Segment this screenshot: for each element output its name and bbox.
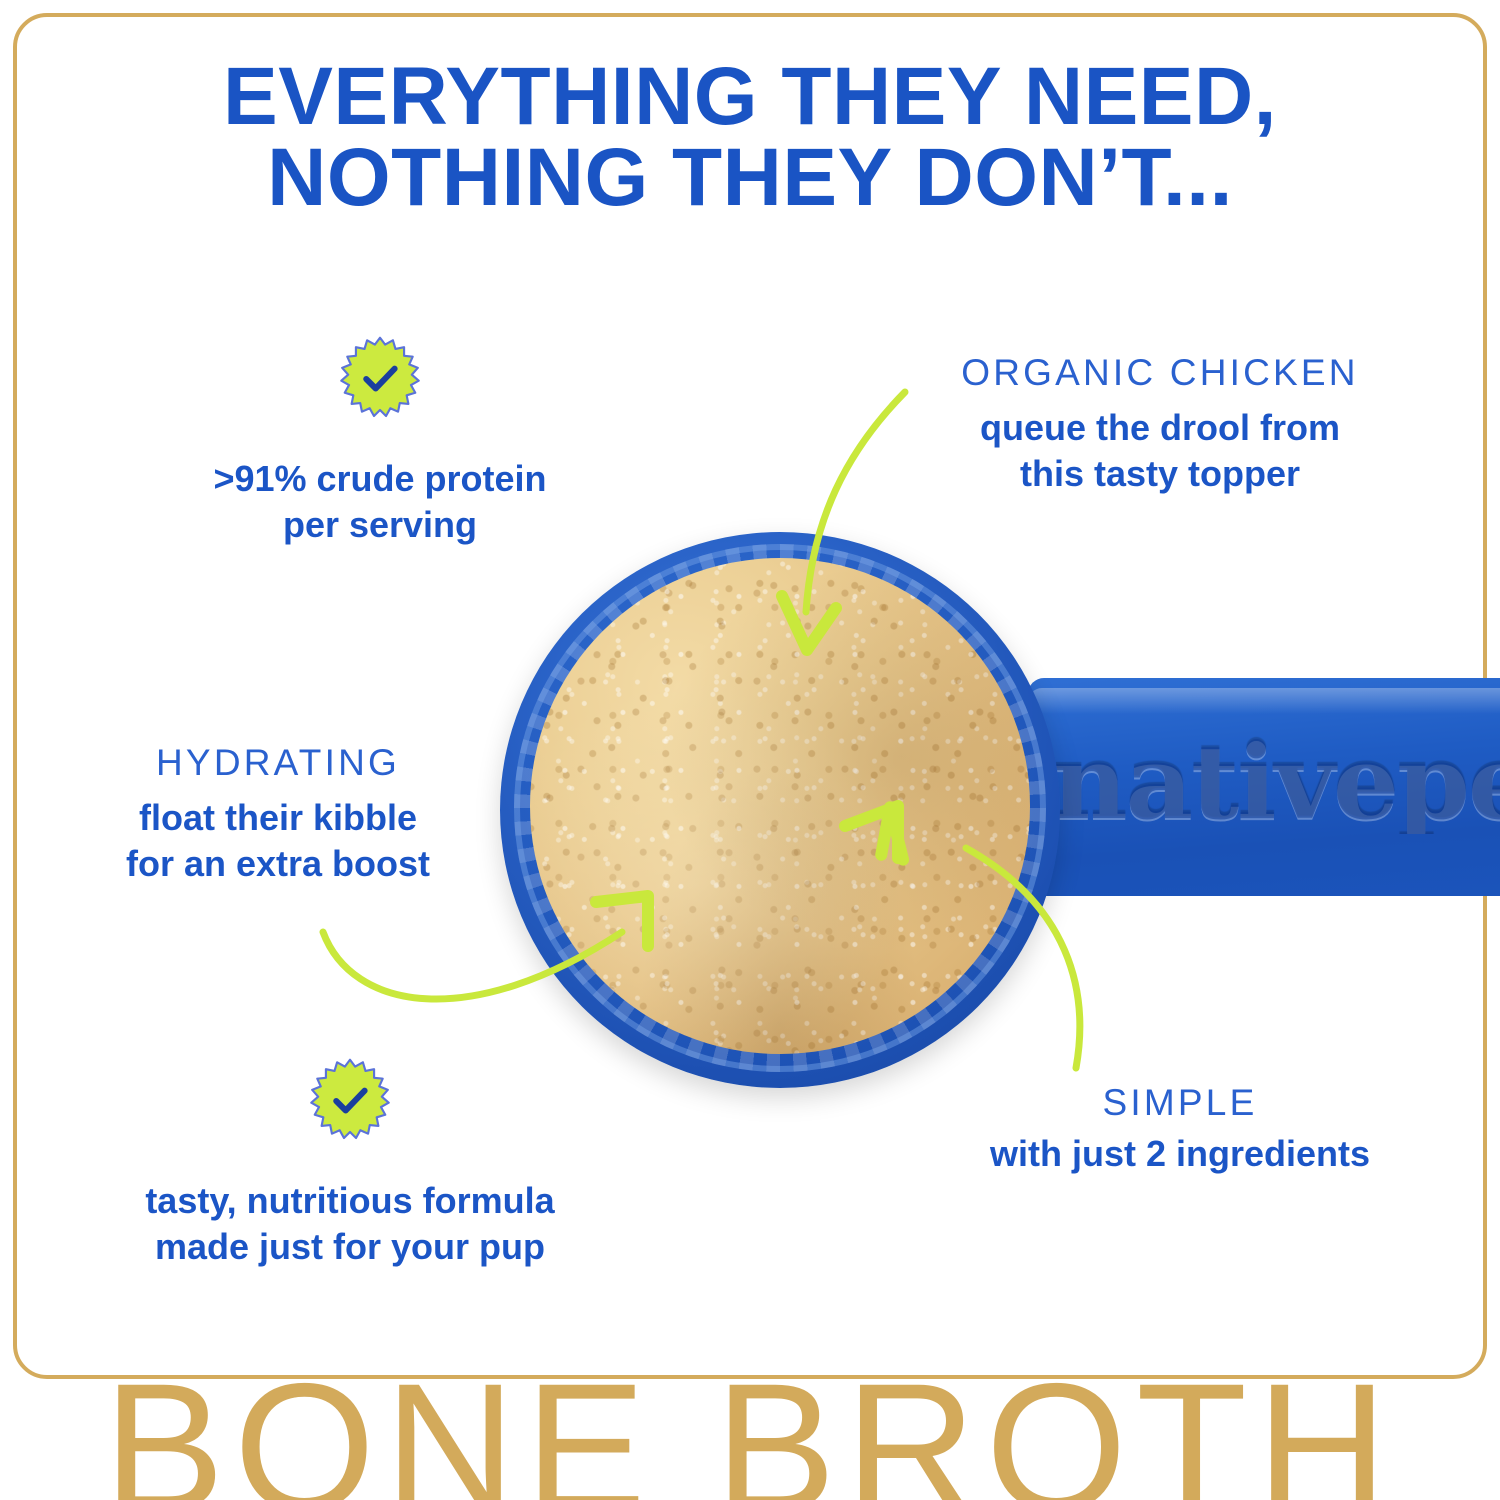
callout-hydrating-line-1: float their kibble bbox=[139, 797, 417, 838]
callout-simple-kicker: SIMPLE bbox=[930, 1082, 1430, 1125]
callout-hydrating-kicker: HYDRATING bbox=[48, 742, 508, 785]
callout-hydrating-line-2: for an extra boost bbox=[126, 843, 430, 884]
callout-simple: SIMPLE with just 2 ingredients bbox=[930, 1082, 1430, 1177]
callout-simple-line-1: with just 2 ingredients bbox=[990, 1133, 1370, 1174]
page-title: EVERYTHING THEY NEED, NOTHING THEY DON’T… bbox=[0, 56, 1500, 218]
callout-protein-body: >91% crude protein per serving bbox=[100, 456, 660, 548]
callout-hydrating-body: float their kibble for an extra boost bbox=[48, 795, 508, 887]
headline-line-1: EVERYTHING THEY NEED, bbox=[223, 51, 1277, 142]
callout-hydrating: HYDRATING float their kibble for an extr… bbox=[48, 742, 508, 887]
scoop-handle: nativepe bbox=[1028, 678, 1500, 896]
bone-broth-powder bbox=[530, 558, 1030, 1054]
callout-tasty-line-2: made just for your pup bbox=[155, 1226, 545, 1267]
callout-organic-chicken: ORGANIC CHICKEN queue the drool from thi… bbox=[880, 352, 1440, 497]
product-wordmark: BONE BROTH bbox=[0, 1356, 1500, 1500]
callout-protein-line-1: >91% crude protein bbox=[213, 458, 546, 499]
callout-tasty-formula: tasty, nutritious formula made just for … bbox=[80, 1058, 620, 1270]
product-infographic: EVERYTHING THEY NEED, NOTHING THEY DON’T… bbox=[0, 0, 1500, 1500]
callout-protein-line-2: per serving bbox=[283, 504, 477, 545]
scoop-embossed-brand: nativepe bbox=[1052, 730, 1500, 834]
callout-chicken-line-1: queue the drool from bbox=[980, 407, 1340, 448]
callout-tasty-body: tasty, nutritious formula made just for … bbox=[80, 1178, 620, 1270]
powder-shading bbox=[530, 558, 1030, 1054]
check-badge-icon bbox=[307, 1058, 393, 1144]
check-badge-icon bbox=[337, 336, 423, 422]
headline-line-2: NOTHING THEY DON’T... bbox=[0, 137, 1500, 218]
scoop-cup bbox=[500, 532, 1060, 1088]
callout-chicken-line-2: this tasty topper bbox=[1020, 453, 1300, 494]
callout-chicken-kicker: ORGANIC CHICKEN bbox=[880, 352, 1440, 395]
callout-chicken-body: queue the drool from this tasty topper bbox=[880, 405, 1440, 497]
callout-simple-body: with just 2 ingredients bbox=[930, 1131, 1430, 1177]
product-scoop-image: nativepe bbox=[472, 520, 1500, 1100]
callout-protein: >91% crude protein per serving bbox=[100, 336, 660, 548]
callout-tasty-line-1: tasty, nutritious formula bbox=[145, 1180, 554, 1221]
